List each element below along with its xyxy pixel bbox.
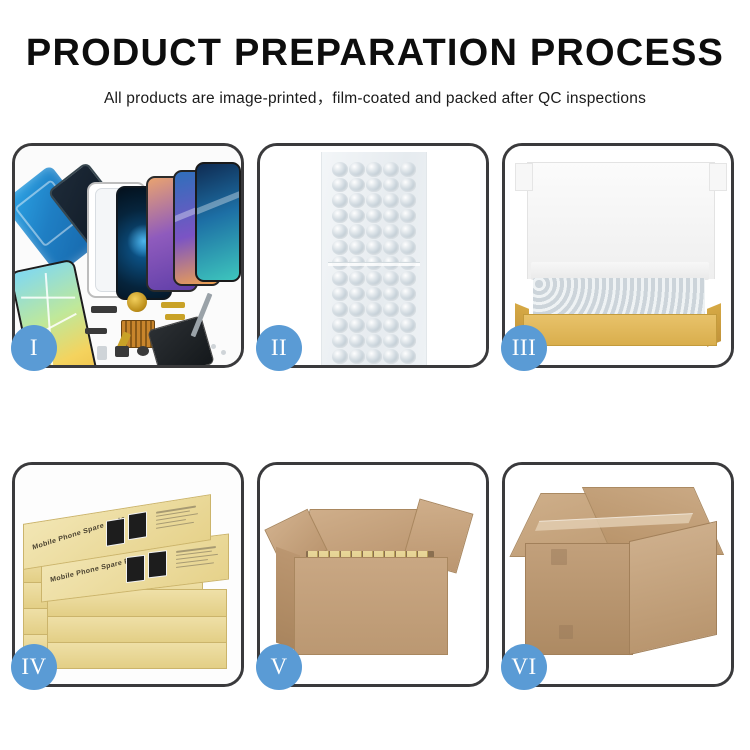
box-screen-image-c	[126, 555, 145, 583]
step-panel-2: II	[257, 143, 489, 368]
step-panel-3: III	[502, 143, 734, 368]
page-title: PRODUCT PREPARATION PROCESS	[0, 34, 750, 72]
step-panel-5: V	[257, 462, 489, 687]
box-screen-image-d	[148, 550, 167, 578]
bubble-wrap-bag	[321, 152, 427, 365]
box-screen-image-a	[106, 518, 125, 547]
carton-tab-lower	[559, 625, 573, 639]
step-badge-2: II	[256, 325, 302, 371]
part-button-set	[85, 328, 107, 334]
part-flex-cable-a	[161, 302, 185, 308]
bag-seam	[328, 262, 420, 266]
step-badge-6: VI	[501, 644, 547, 690]
part-screw-a	[211, 344, 216, 349]
part-camera-module	[115, 346, 129, 357]
step-badge-5: V	[256, 644, 302, 690]
bubble-wrapped-contents	[533, 278, 705, 316]
mailer-box-front	[523, 314, 717, 346]
box-screen-image-b	[128, 511, 147, 540]
carton-tab-upper	[551, 549, 567, 565]
step-panel-4: Mobile Phone Spare Parts Mobile Phone Sp…	[12, 462, 244, 687]
part-battery-connector	[97, 346, 107, 360]
step-badge-4: IV	[11, 644, 57, 690]
phone-screen-teal	[195, 162, 241, 282]
sealed-carton-front-face	[525, 543, 633, 655]
page-subtitle: All products are image-printed，film-coat…	[0, 86, 750, 108]
infographic-page: PRODUCT PREPARATION PROCESS All products…	[0, 0, 750, 750]
step-badge-1: I	[11, 325, 57, 371]
part-speaker	[137, 346, 149, 356]
process-steps-grid: I	[12, 143, 738, 687]
box-stack: Mobile Phone Spare Parts Mobile Phone Sp…	[23, 483, 235, 673]
part-back-housing	[147, 315, 215, 365]
step-panel-6: VI	[502, 462, 734, 687]
sealed-carton-side-face	[629, 521, 717, 655]
step-panel-1: I	[12, 143, 244, 368]
part-connector	[91, 306, 117, 313]
carton-front-face	[294, 557, 448, 655]
step-badge-3: III	[501, 325, 547, 371]
stacked-box-right-4	[47, 615, 227, 643]
bubble-grid	[332, 162, 416, 358]
part-flex-cable-b	[165, 314, 185, 320]
part-coil	[127, 292, 147, 312]
part-screw-b	[221, 350, 226, 355]
header: PRODUCT PREPARATION PROCESS All products…	[0, 0, 750, 108]
stacked-box-right-5	[47, 641, 227, 669]
